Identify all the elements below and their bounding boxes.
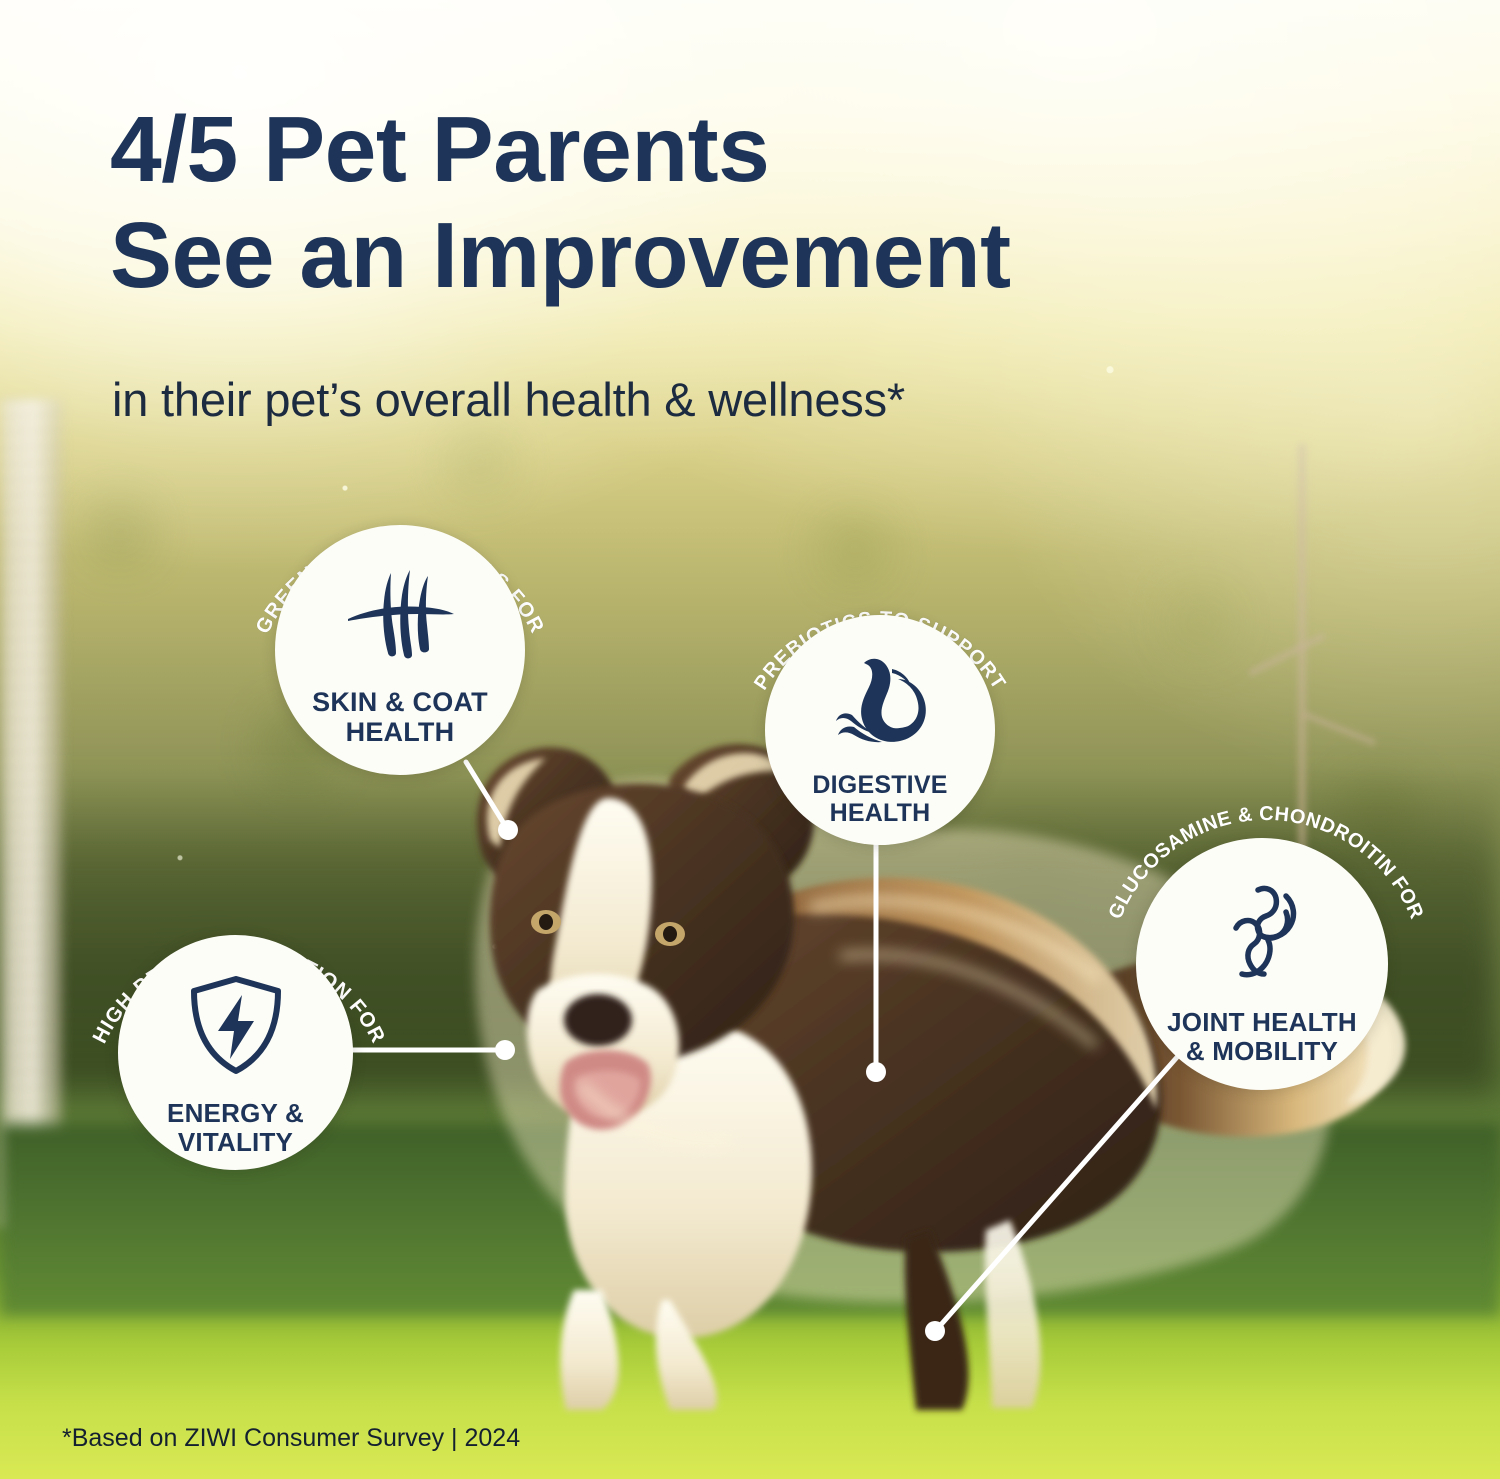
badge-disc[interactable]: ENERGY & VITALITY	[118, 935, 353, 1170]
badge-label-line1: JOINT HEALTH	[1167, 1007, 1357, 1037]
badge-label-line2: HEALTH	[346, 717, 455, 747]
hair-follicle-icon	[344, 569, 456, 661]
badge-label: SKIN & COAT HEALTH	[312, 687, 488, 747]
badge-label: DIGESTIVE HEALTH	[812, 771, 947, 827]
badge-label: JOINT HEALTH & MOBILITY	[1167, 1008, 1357, 1066]
headline-line-1: 4/5 Pet Parents	[110, 96, 1410, 202]
subheading: in their pet’s overall health & wellness…	[112, 372, 1372, 427]
badge-skin-and-coat[interactable]: GREEN LIPPED MUSSELS FOR SKIN & COAT HEA…	[246, 492, 554, 800]
page-title: 4/5 Pet Parents See an Improvement	[110, 96, 1410, 308]
badge-joint-health[interactable]: GLUCOSAMINE & CHONDROITIN FOR JOINT HEAL…	[1098, 790, 1434, 1108]
promo-banner: GREEN LIPPED MUSSELS FOR SKIN & COAT HEA…	[0, 0, 1500, 1479]
badge-label-line1: ENERGY &	[167, 1098, 304, 1128]
badge-energy-vitality[interactable]: HIGH PROTEIN NUTRITION FOR ENERGY & VITA…	[82, 892, 394, 1192]
badge-disc[interactable]: DIGESTIVE HEALTH	[765, 615, 995, 845]
badge-label-line2: HEALTH	[830, 799, 931, 827]
badge-label-line2: & MOBILITY	[1186, 1036, 1338, 1066]
badge-label-line1: SKIN & COAT	[312, 687, 488, 717]
footnote-source: *Based on ZIWI Consumer Survey | 2024	[62, 1424, 520, 1453]
badge-label-line1: DIGESTIVE	[812, 771, 947, 799]
headline-line-2: See an Improvement	[110, 202, 1410, 308]
badge-label-line2: VITALITY	[178, 1127, 293, 1157]
badge-disc[interactable]: JOINT HEALTH & MOBILITY	[1136, 838, 1388, 1090]
knee-joint-icon	[1210, 882, 1314, 986]
shield-lightning-icon	[188, 975, 284, 1075]
stomach-icon	[824, 655, 936, 747]
badge-digestive-health[interactable]: PREBIOTICS TO SUPPORT DIGESTIVE HEALTH	[738, 578, 1022, 862]
badge-label: ENERGY & VITALITY	[167, 1099, 304, 1157]
badge-disc[interactable]: SKIN & COAT HEALTH	[275, 525, 525, 775]
